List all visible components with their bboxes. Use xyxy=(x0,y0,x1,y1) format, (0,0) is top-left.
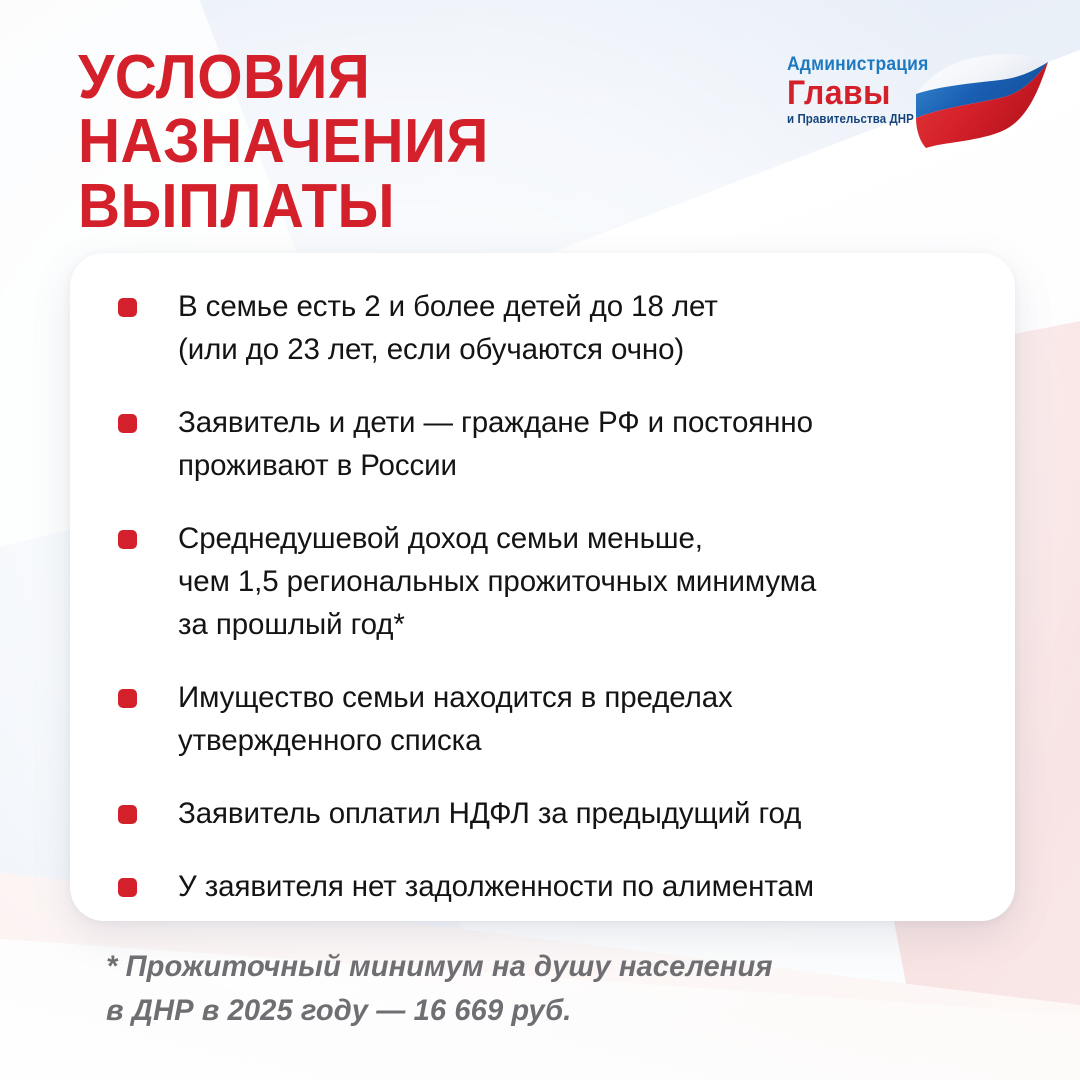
organization-logo: Администрация Главы и Правительства ДНР xyxy=(787,50,1052,155)
conditions-card: В семье есть 2 и более детей до 18 лет (… xyxy=(70,253,1015,921)
poster-header: Условия назначения выплаты Администрация… xyxy=(0,0,1080,250)
condition-item-property: Имущество семьи находится в пределах утв… xyxy=(118,676,981,762)
bullet-square-icon xyxy=(118,530,137,549)
condition-text: Заявитель оплатил НДФЛ за предыдущий год xyxy=(178,792,981,835)
condition-item-alimony: У заявителя нет задолженности по алимент… xyxy=(118,865,981,908)
condition-item-ndfl: Заявитель оплатил НДФЛ за предыдущий год xyxy=(118,792,981,835)
bullet-square-icon xyxy=(118,414,137,433)
condition-text: Среднедушевой доход семьи меньше, чем 1,… xyxy=(178,517,981,646)
page-title: Условия назначения выплаты xyxy=(78,46,736,239)
footnote-text: * Прожиточный минимум на душу населения … xyxy=(106,945,960,1033)
conditions-list: В семье есть 2 и более детей до 18 лет (… xyxy=(118,285,981,908)
bullet-square-icon xyxy=(118,878,137,897)
logo-line-government: и Правительства ДНР xyxy=(787,112,934,126)
logo-text-block: Администрация Главы и Правительства ДНР xyxy=(787,54,947,126)
condition-text: Имущество семьи находится в пределах утв… xyxy=(178,676,981,762)
condition-text: Заявитель и дети — граждане РФ и постоян… xyxy=(178,401,981,487)
logo-line-head: Главы xyxy=(787,77,937,110)
bullet-square-icon xyxy=(118,805,137,824)
infographic-poster: Условия назначения выплаты Администрация… xyxy=(0,0,1080,1080)
condition-text: У заявителя нет задолженности по алимент… xyxy=(178,865,981,908)
logo-line-administration: Администрация xyxy=(787,54,934,76)
condition-item-citizenship: Заявитель и дети — граждане РФ и постоян… xyxy=(118,401,981,487)
bullet-square-icon xyxy=(118,689,137,708)
condition-item-children-count: В семье есть 2 и более детей до 18 лет (… xyxy=(118,285,981,371)
condition-text: В семье есть 2 и более детей до 18 лет (… xyxy=(178,285,981,371)
bullet-square-icon xyxy=(118,298,137,317)
condition-item-income: Среднедушевой доход семьи меньше, чем 1,… xyxy=(118,517,981,646)
